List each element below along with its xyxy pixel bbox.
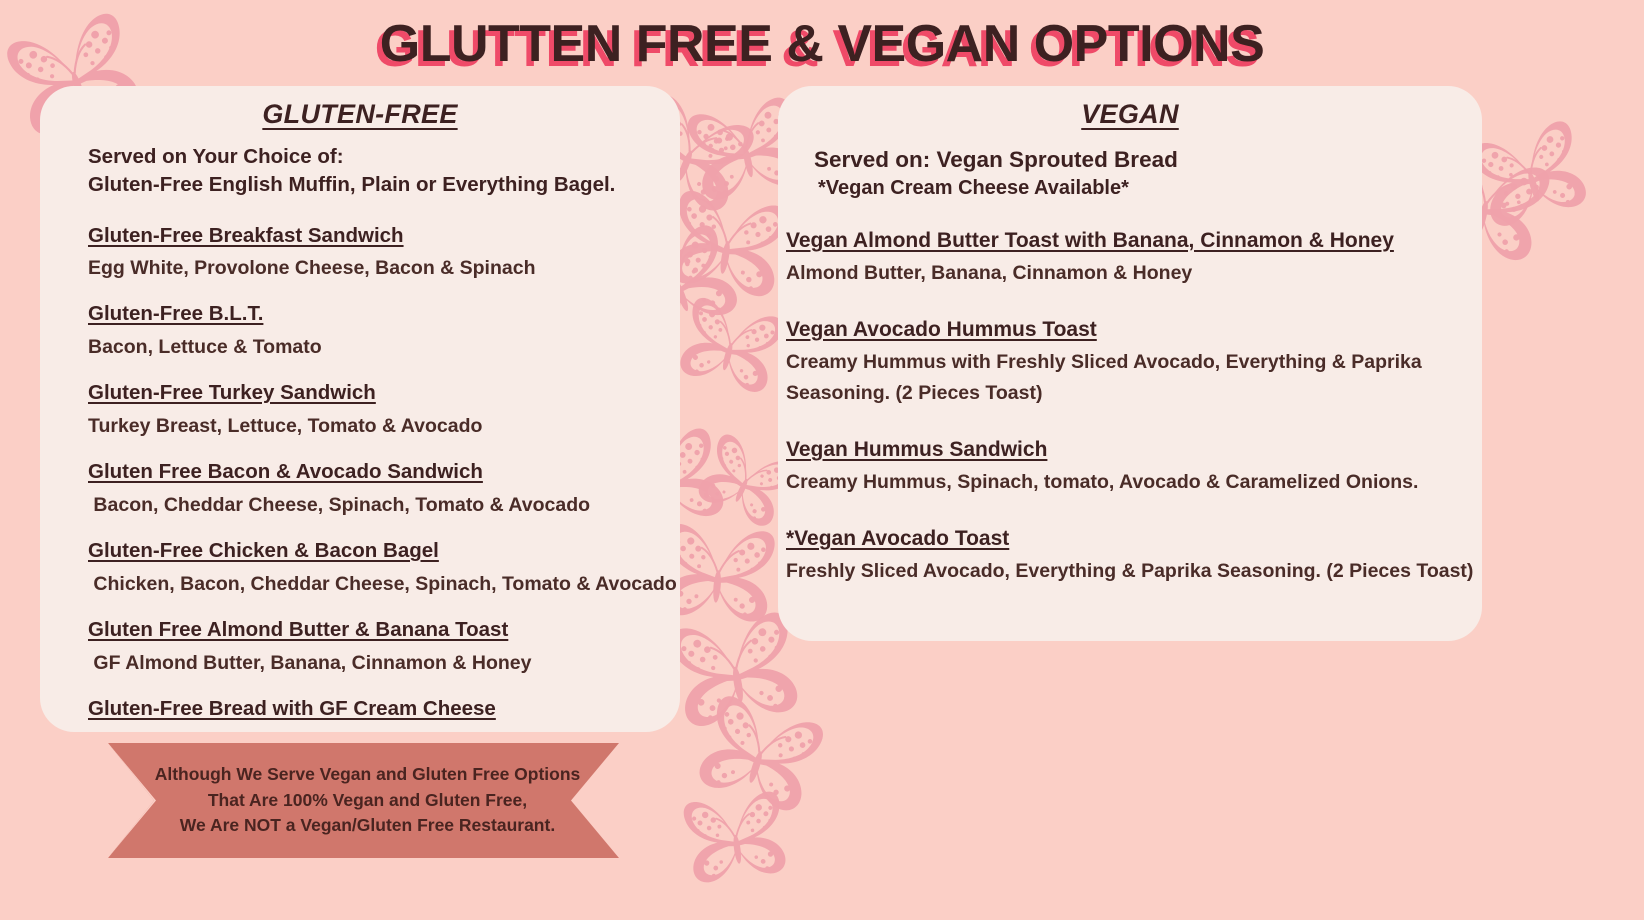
gluten-free-intro-line-2: Gluten-Free English Muffin, Plain or Eve…	[88, 171, 680, 199]
menu-item-name: Gluten Free Bacon & Avocado Sandwich	[88, 459, 680, 486]
menu-item: Gluten-Free Breakfast SandwichEgg White,…	[88, 223, 680, 284]
menu-item-description: Egg White, Provolone Cheese, Bacon & Spi…	[88, 253, 680, 283]
disclaimer-line-3: We Are NOT a Vegan/Gluten Free Restauran…	[155, 813, 581, 838]
menu-item-name: Vegan Avocado Hummus Toast	[786, 316, 1482, 343]
disclaimer-ribbon: Although We Serve Vegan and Gluten Free …	[108, 743, 619, 858]
menu-item: *Vegan Avocado ToastFreshly Sliced Avoca…	[786, 525, 1482, 588]
menu-item-name: Gluten-Free Bread with GF Cream Cheese	[88, 696, 680, 723]
menu-item-description: Bacon, Cheddar Cheese, Spinach, Tomato &…	[88, 490, 680, 520]
page-title: GLUTTEN FREE & VEGAN OPTIONS	[0, 14, 1644, 74]
gluten-free-intro-line-1: Served on Your Choice of:	[88, 143, 680, 171]
disclaimer-line-1: Although We Serve Vegan and Gluten Free …	[155, 762, 581, 787]
gluten-free-item-list: Gluten-Free Breakfast SandwichEgg White,…	[40, 200, 680, 723]
menu-item-name: Gluten-Free Turkey Sandwich	[88, 380, 680, 407]
menu-item-description: Turkey Breast, Lettuce, Tomato & Avocado	[88, 411, 680, 441]
menu-item: Gluten Free Bacon & Avocado Sandwich Bac…	[88, 459, 680, 520]
gluten-free-header: GLUTEN-FREE	[40, 86, 680, 130]
vegan-intro: Served on: Vegan Sprouted Bread *Vegan C…	[778, 130, 1482, 203]
menu-item-description: Freshly Sliced Avocado, Everything & Pap…	[786, 556, 1482, 588]
menu-item: Gluten-Free Turkey SandwichTurkey Breast…	[88, 380, 680, 441]
menu-item-name: Gluten Free Almond Butter & Banana Toast	[88, 617, 680, 644]
butterfly-icon	[1464, 111, 1599, 243]
butterfly-icon	[678, 783, 795, 897]
menu-item-name: Gluten-Free Chicken & Bacon Bagel	[88, 538, 680, 565]
butterfly-icon	[685, 685, 832, 830]
vegan-header: VEGAN	[778, 86, 1482, 130]
disclaimer-text: Although We Serve Vegan and Gluten Free …	[147, 762, 581, 838]
menu-item-description: Almond Butter, Banana, Cinnamon & Honey	[786, 258, 1482, 290]
butterfly-icon	[669, 289, 790, 408]
gluten-free-panel: GLUTEN-FREE Served on Your Choice of: Gl…	[40, 86, 680, 732]
menu-item: Vegan Almond Butter Toast with Banana, C…	[786, 227, 1482, 290]
menu-item-description: GF Almond Butter, Banana, Cinnamon & Hon…	[88, 648, 680, 678]
vegan-intro-line-1: Served on: Vegan Sprouted Bread	[814, 144, 1482, 175]
menu-item: Gluten Free Almond Butter & Banana Toast…	[88, 617, 680, 678]
menu-item: Gluten-Free B.L.T.Bacon, Lettuce & Tomat…	[88, 301, 680, 362]
menu-item-name: Vegan Hummus Sandwich	[786, 436, 1482, 463]
menu-item-description: Creamy Hummus with Freshly Sliced Avocad…	[786, 347, 1482, 410]
menu-item-name: *Vegan Avocado Toast	[786, 525, 1482, 552]
menu-item: Vegan Hummus SandwichCreamy Hummus, Spin…	[786, 436, 1482, 499]
menu-item: Vegan Avocado Hummus ToastCreamy Hummus …	[786, 316, 1482, 410]
menu-item-description: Chicken, Bacon, Cheddar Cheese, Spinach,…	[88, 569, 680, 599]
menu-item-name: Gluten-Free B.L.T.	[88, 301, 680, 328]
vegan-intro-line-2: *Vegan Cream Cheese Available*	[814, 175, 1482, 203]
menu-item-name: Gluten-Free Breakfast Sandwich	[88, 223, 680, 250]
menu-item: Gluten-Free Chicken & Bacon Bagel Chicke…	[88, 538, 680, 599]
vegan-item-list: Vegan Almond Butter Toast with Banana, C…	[778, 203, 1482, 588]
menu-item-description: Creamy Hummus, Spinach, tomato, Avocado …	[786, 467, 1482, 499]
menu-item: Gluten-Free Bread with GF Cream Cheese	[88, 696, 680, 723]
menu-item-name: Vegan Almond Butter Toast with Banana, C…	[786, 227, 1482, 254]
menu-item-description: Bacon, Lettuce & Tomato	[88, 332, 680, 362]
vegan-panel: VEGAN Served on: Vegan Sprouted Bread *V…	[778, 86, 1482, 641]
disclaimer-line-2: That Are 100% Vegan and Gluten Free,	[155, 788, 581, 813]
gluten-free-intro: Served on Your Choice of: Gluten-Free En…	[40, 130, 680, 200]
